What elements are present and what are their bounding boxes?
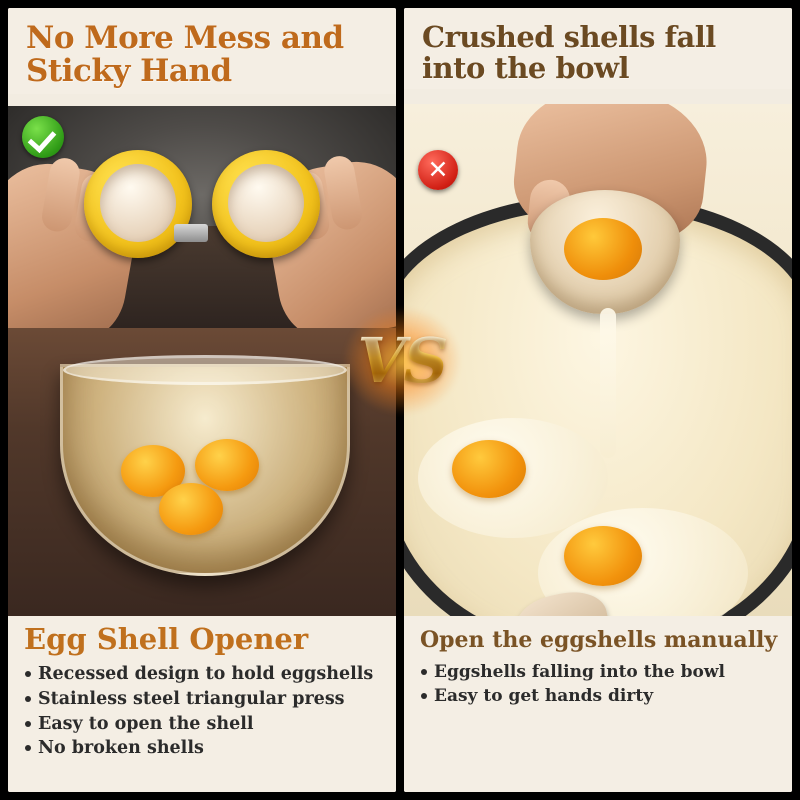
right-headline-line-1: Crushed shells fall <box>422 22 778 53</box>
egg-shell-opener-right <box>212 150 320 258</box>
egg-yolk <box>159 483 223 535</box>
egg-yolk <box>564 526 642 586</box>
photo-bowl-with-clean-yolks <box>8 328 396 616</box>
left-headline: No More Mess and Sticky Hand <box>8 8 396 94</box>
list-item: Eggshells falling into the bowl <box>420 660 782 684</box>
egg-yolk <box>452 440 526 498</box>
list-item: Recessed design to hold eggshells <box>24 662 386 687</box>
cross-mark-icon: ✕ <box>418 150 458 190</box>
list-item: Easy to get hands dirty <box>420 684 782 708</box>
left-caption-title: Egg Shell Opener <box>24 624 386 656</box>
egg-in-opener <box>100 164 176 242</box>
stainless-steel-press <box>174 224 208 242</box>
left-headline-line-1: No More Mess and <box>26 22 382 55</box>
glass-bowl <box>60 364 350 576</box>
list-item: Easy to open the shell <box>24 712 386 737</box>
egg-shell-opener-left <box>84 150 192 258</box>
right-caption: Open the eggshells manually Eggshells fa… <box>404 616 792 792</box>
dripping-egg-white <box>600 308 616 458</box>
vs-label: VS <box>358 330 447 392</box>
right-panel: Crushed shells fall into the bowl ✕ Ope <box>404 8 792 792</box>
left-bullet-list: Recessed design to hold eggshells Stainl… <box>24 662 386 761</box>
list-item: Stainless steel triangular press <box>24 687 386 712</box>
right-bullet-list: Eggshells falling into the bowl Easy to … <box>420 660 782 708</box>
photo-manual-egg-cracking: ✕ <box>404 104 792 616</box>
product-comparison-poster: No More Mess and Sticky Hand Sticky Hand <box>0 0 800 800</box>
egg-yolk <box>195 439 259 491</box>
left-caption: Egg Shell Opener Recessed design to hold… <box>8 616 396 792</box>
right-headline-line-2: into the bowl <box>422 53 778 84</box>
egg-yolk <box>564 218 642 280</box>
left-headline-line-2: Sticky Hand <box>26 55 382 88</box>
vs-badge: VS <box>342 306 462 416</box>
check-mark-icon <box>22 116 64 158</box>
right-headline: Crushed shells fall into the bowl <box>404 8 792 89</box>
list-item: No broken shells <box>24 736 386 761</box>
right-caption-title: Open the eggshells manually <box>420 628 782 652</box>
photo-egg-opener-in-hands <box>8 106 396 328</box>
egg-in-opener <box>228 164 304 242</box>
left-panel: No More Mess and Sticky Hand Sticky Hand <box>8 8 396 792</box>
